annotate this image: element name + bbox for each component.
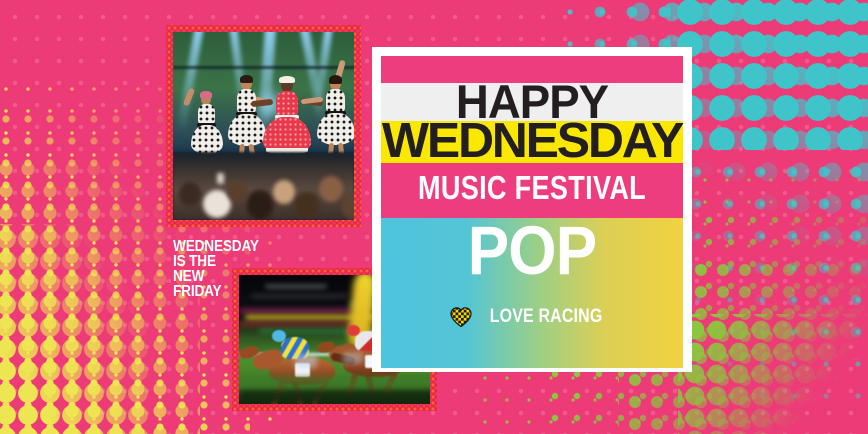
dancers-photo-image (173, 32, 354, 220)
poster-canvas: WEDNESDAY IS THE NEW FRIDAY HAPPY WEDNES… (0, 0, 868, 434)
dancer-headband (279, 76, 295, 83)
motion-streak (251, 295, 347, 297)
tagline: WEDNESDAY IS THE NEW FRIDAY (173, 239, 252, 299)
dancer-torso (198, 104, 215, 124)
motion-streak (239, 309, 359, 313)
dancer-skirt (191, 125, 223, 154)
tagline-line-4: FRIDAY (173, 284, 252, 299)
dancer-hair (329, 75, 342, 84)
dancer-skirt (317, 113, 354, 145)
audience-head (319, 176, 343, 202)
headline-genre: POP (396, 216, 668, 285)
brand-name: LOVE RACING (490, 306, 603, 328)
dancer-arm (251, 99, 274, 107)
tagline-line-3: NEW (173, 269, 252, 284)
track-marker (343, 352, 363, 364)
brand-logo: LOVE RACING (381, 306, 683, 328)
headline-weekday: WEDNESDAY (378, 117, 686, 166)
tagline-line-1: WEDNESDAY (173, 239, 252, 254)
dancer-hair (200, 91, 212, 98)
audience-head (295, 192, 319, 218)
track-marker (295, 354, 317, 368)
event-panel-inner: HAPPY WEDNESDAY MUSIC FESTIVAL POP (381, 56, 683, 363)
dancer-torso (326, 89, 345, 112)
jockey-helmet (272, 330, 286, 342)
audience-phone (217, 173, 224, 184)
audience-head (227, 180, 247, 202)
jockey-helmet (347, 325, 360, 336)
audience-head (179, 182, 201, 206)
dancer-torso (276, 91, 298, 116)
motion-streak (265, 285, 327, 288)
tagline-line-2: IS THE (173, 254, 252, 269)
audience-head (273, 180, 295, 204)
turf-blur (239, 390, 430, 404)
dancers-photo (166, 25, 361, 227)
audience-head (247, 190, 273, 220)
headline-event: MUSIC FESTIVAL (408, 171, 656, 204)
dancer-hair (240, 75, 253, 83)
checkered-heart-icon (450, 307, 472, 327)
event-panel: HAPPY WEDNESDAY MUSIC FESTIVAL POP (372, 47, 692, 372)
